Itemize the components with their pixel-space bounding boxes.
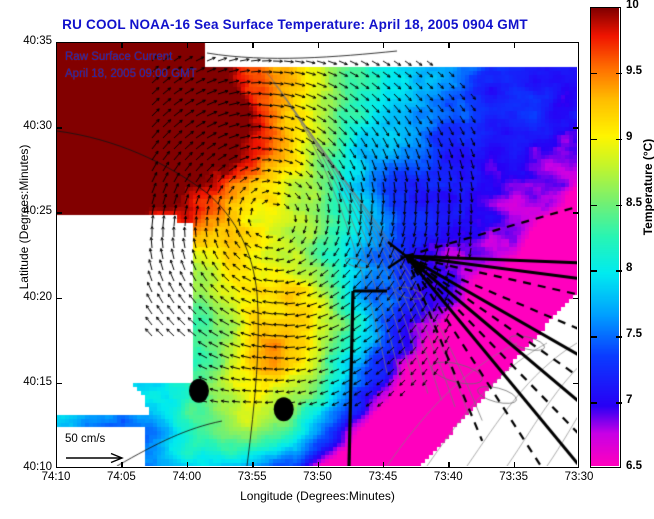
x-tick-label: 74:05 [95,471,147,483]
x-tick-label: 74:00 [161,471,213,483]
colorbar-tick-mark [616,73,622,75]
y-tick-mark [573,383,579,385]
x-tick-mark [318,42,320,48]
x-tick-label: 73:35 [488,471,540,483]
colorbar-title: Temperature (°C) [641,107,654,267]
colorbar-tick-label: 10 [626,0,639,11]
annotation-line-2: April 18, 2005 09:00 GMT [65,68,197,80]
x-tick-mark [121,462,123,468]
x-tick-mark [187,42,189,48]
x-tick-mark [383,42,385,48]
colorbar-tick-label: 6.5 [626,460,642,472]
colorbar-tick-mark [591,73,597,75]
x-tick-label: 73:30 [553,471,605,483]
colorbar[interactable] [590,7,621,468]
x-tick-mark [252,42,254,48]
scalebar-label: 50 cm/s [65,433,105,445]
y-tick-mark [56,212,62,214]
colorbar-tick-label: 9 [626,131,632,143]
colorbar-gradient-canvas [591,8,619,466]
y-tick-label: 40:35 [4,35,52,47]
x-axis-title: Longitude (Degrees:Minutes) [56,489,579,503]
colorbar-tick-mark [591,205,597,207]
y-tick-mark [56,298,62,300]
x-tick-label: 73:55 [226,471,278,483]
y-tick-label: 40:10 [4,461,52,473]
scalebar-arrow-icon [65,451,127,465]
screenshot-root: RU COOL NOAA-16 Sea Surface Temperature:… [0,0,654,519]
y-tick-label: 40:15 [4,376,52,388]
colorbar-tick-mark [591,336,597,338]
colorbar-tick-label: 7.5 [626,328,642,340]
colorbar-tick-label: 8.5 [626,197,642,209]
colorbar-tick-label: 9.5 [626,65,642,77]
y-tick-mark [56,127,62,129]
x-tick-mark [514,42,516,48]
map-plot-area[interactable]: Raw Surface Current April 18, 2005 09:00… [56,42,579,468]
x-tick-mark [514,462,516,468]
x-tick-mark [187,462,189,468]
colorbar-tick-mark [616,139,622,141]
y-tick-mark [573,298,579,300]
y-tick-mark [573,127,579,129]
y-tick-mark [56,383,62,385]
y-axis-title: Latitude (Degrees:Minutes) [17,107,31,327]
colorbar-tick-mark [616,205,622,207]
x-tick-label: 73:45 [357,471,409,483]
annotation-line-1: Raw Surface Current [65,51,172,63]
x-tick-mark [252,462,254,468]
x-tick-mark [448,462,450,468]
colorbar-tick-mark [591,270,597,272]
chart-title: RU COOL NOAA-16 Sea Surface Temperature:… [0,17,590,32]
x-tick-mark [121,42,123,48]
x-tick-label: 73:50 [292,471,344,483]
colorbar-tick-mark [616,402,622,404]
x-tick-label: 73:40 [422,471,474,483]
y-tick-mark [573,212,579,214]
x-tick-mark [383,462,385,468]
x-tick-mark [318,462,320,468]
colorbar-tick-mark [591,402,597,404]
current-vector-overlay-canvas [57,43,577,466]
colorbar-tick-label: 8 [626,262,632,274]
colorbar-tick-mark [616,336,622,338]
colorbar-tick-mark [591,139,597,141]
colorbar-tick-mark [616,270,622,272]
x-tick-mark [448,42,450,48]
colorbar-tick-label: 7 [626,394,632,406]
